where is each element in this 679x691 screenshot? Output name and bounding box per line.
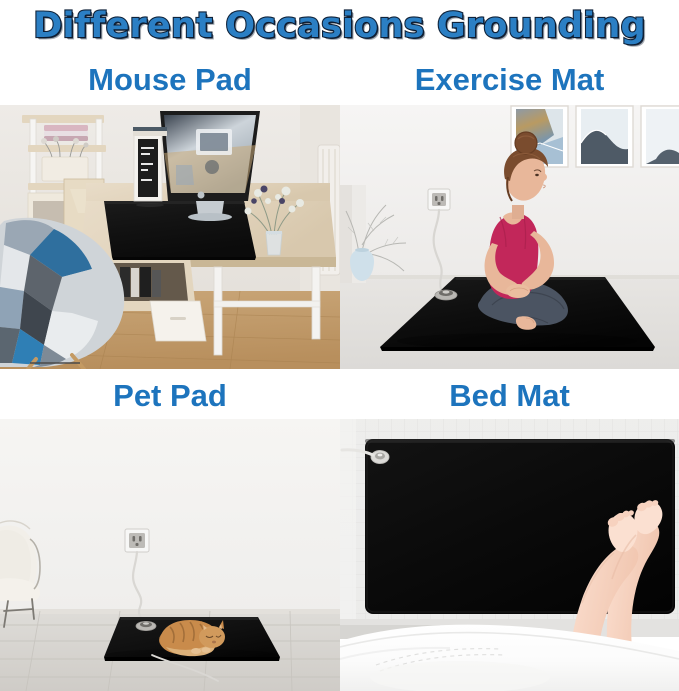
book-stack <box>133 127 167 201</box>
panel-image-exercise-mat <box>340 105 679 369</box>
panel-image-pet-pad <box>0 419 340 691</box>
wall-outlet <box>125 529 149 552</box>
panel-image-bed-mat <box>340 419 679 691</box>
mat-snap-connector <box>371 451 389 464</box>
pet-pad-illustration <box>0 419 340 691</box>
bed-mat-illustration <box>340 419 679 691</box>
mat-snap-connector <box>435 290 457 300</box>
product-grounding-desk-mat <box>104 201 256 260</box>
pad-snap-connector <box>136 621 156 630</box>
panel-label-pet-pad: Pet Pad <box>0 378 340 414</box>
infographic-page: Different Occasions Grounding Mouse Pad … <box>0 0 679 691</box>
panel-label-bed-mat: Bed Mat <box>340 378 679 414</box>
wall-outlet <box>428 189 450 210</box>
panel-image-mouse-pad <box>0 105 340 369</box>
page-title: Different Occasions Grounding <box>33 6 645 46</box>
title-banner: Different Occasions Grounding <box>0 0 679 52</box>
exercise-mat-illustration <box>340 105 679 369</box>
panel-label-mouse-pad: Mouse Pad <box>0 62 340 98</box>
panel-label-exercise-mat: Exercise Mat <box>340 62 679 98</box>
mouse-pad-illustration <box>0 105 340 369</box>
